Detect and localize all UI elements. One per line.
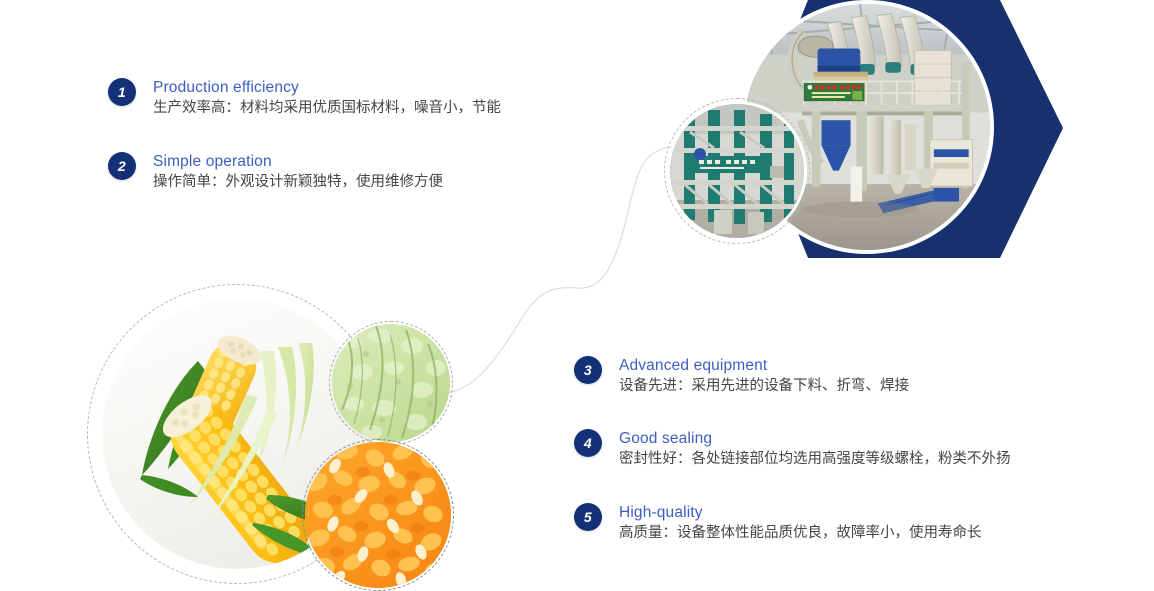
feature-title-cn-2: 操作简单：外观设计新颖独特，使用维修方便 [153, 172, 443, 193]
feature-badge-3: 3 [574, 356, 602, 384]
feature-title-cn-4: 密封性好：各处链接部位均选用高强度等级螺栓，粉类不外扬 [619, 449, 1011, 470]
corn-photo-cluster [85, 281, 460, 591]
feature-title-en-5: High-quality [619, 503, 982, 522]
feature-item-1[interactable]: 1 Production efficiency 生产效率高：材料均采用优质国标材… [108, 78, 501, 119]
feature-title-en-4: Good sealing [619, 429, 1011, 448]
mill-photo-cluster [660, 0, 1080, 271]
feature-text-5: High-quality 高质量：设备整体性能品质优良，故障率小，使用寿命长 [619, 503, 982, 544]
feature-title-cn-5: 高质量：设备整体性能品质优良，故障率小，使用寿命长 [619, 523, 982, 544]
feature-badge-1: 1 [108, 78, 136, 106]
corn-paste-photo-ring [329, 321, 453, 445]
feature-item-5[interactable]: 5 High-quality 高质量：设备整体性能品质优良，故障率小，使用寿命长 [574, 503, 982, 544]
infographic-canvas: 1 Production efficiency 生产效率高：材料均采用优质国标材… [0, 0, 1154, 591]
feature-text-1: Production efficiency 生产效率高：材料均采用优质国标材料，… [153, 78, 501, 119]
feature-text-4: Good sealing 密封性好：各处链接部位均选用高强度等级螺栓，粉类不外扬 [619, 429, 1011, 470]
feature-badge-4: 4 [574, 429, 602, 457]
feature-title-en-2: Simple operation [153, 152, 443, 171]
feature-item-3[interactable]: 3 Advanced equipment 设备先进：采用先进的设备下料、折弯、焊… [574, 356, 909, 397]
feature-badge-5: 5 [574, 503, 602, 531]
corn-grits-photo-ring [302, 439, 454, 591]
feature-title-cn-3: 设备先进：采用先进的设备下料、折弯、焊接 [619, 376, 909, 397]
feature-text-2: Simple operation 操作简单：外观设计新颖独特，使用维修方便 [153, 152, 443, 193]
green-mill-photo-ring [664, 98, 810, 244]
feature-item-2[interactable]: 2 Simple operation 操作简单：外观设计新颖独特，使用维修方便 [108, 152, 443, 193]
feature-item-4[interactable]: 4 Good sealing 密封性好：各处链接部位均选用高强度等级螺栓，粉类不… [574, 429, 1011, 470]
feature-title-en-1: Production efficiency [153, 78, 501, 97]
feature-title-en-3: Advanced equipment [619, 356, 909, 375]
feature-badge-2: 2 [108, 152, 136, 180]
feature-text-3: Advanced equipment 设备先进：采用先进的设备下料、折弯、焊接 [619, 356, 909, 397]
feature-title-cn-1: 生产效率高：材料均采用优质国标材料，噪音小，节能 [153, 98, 501, 119]
